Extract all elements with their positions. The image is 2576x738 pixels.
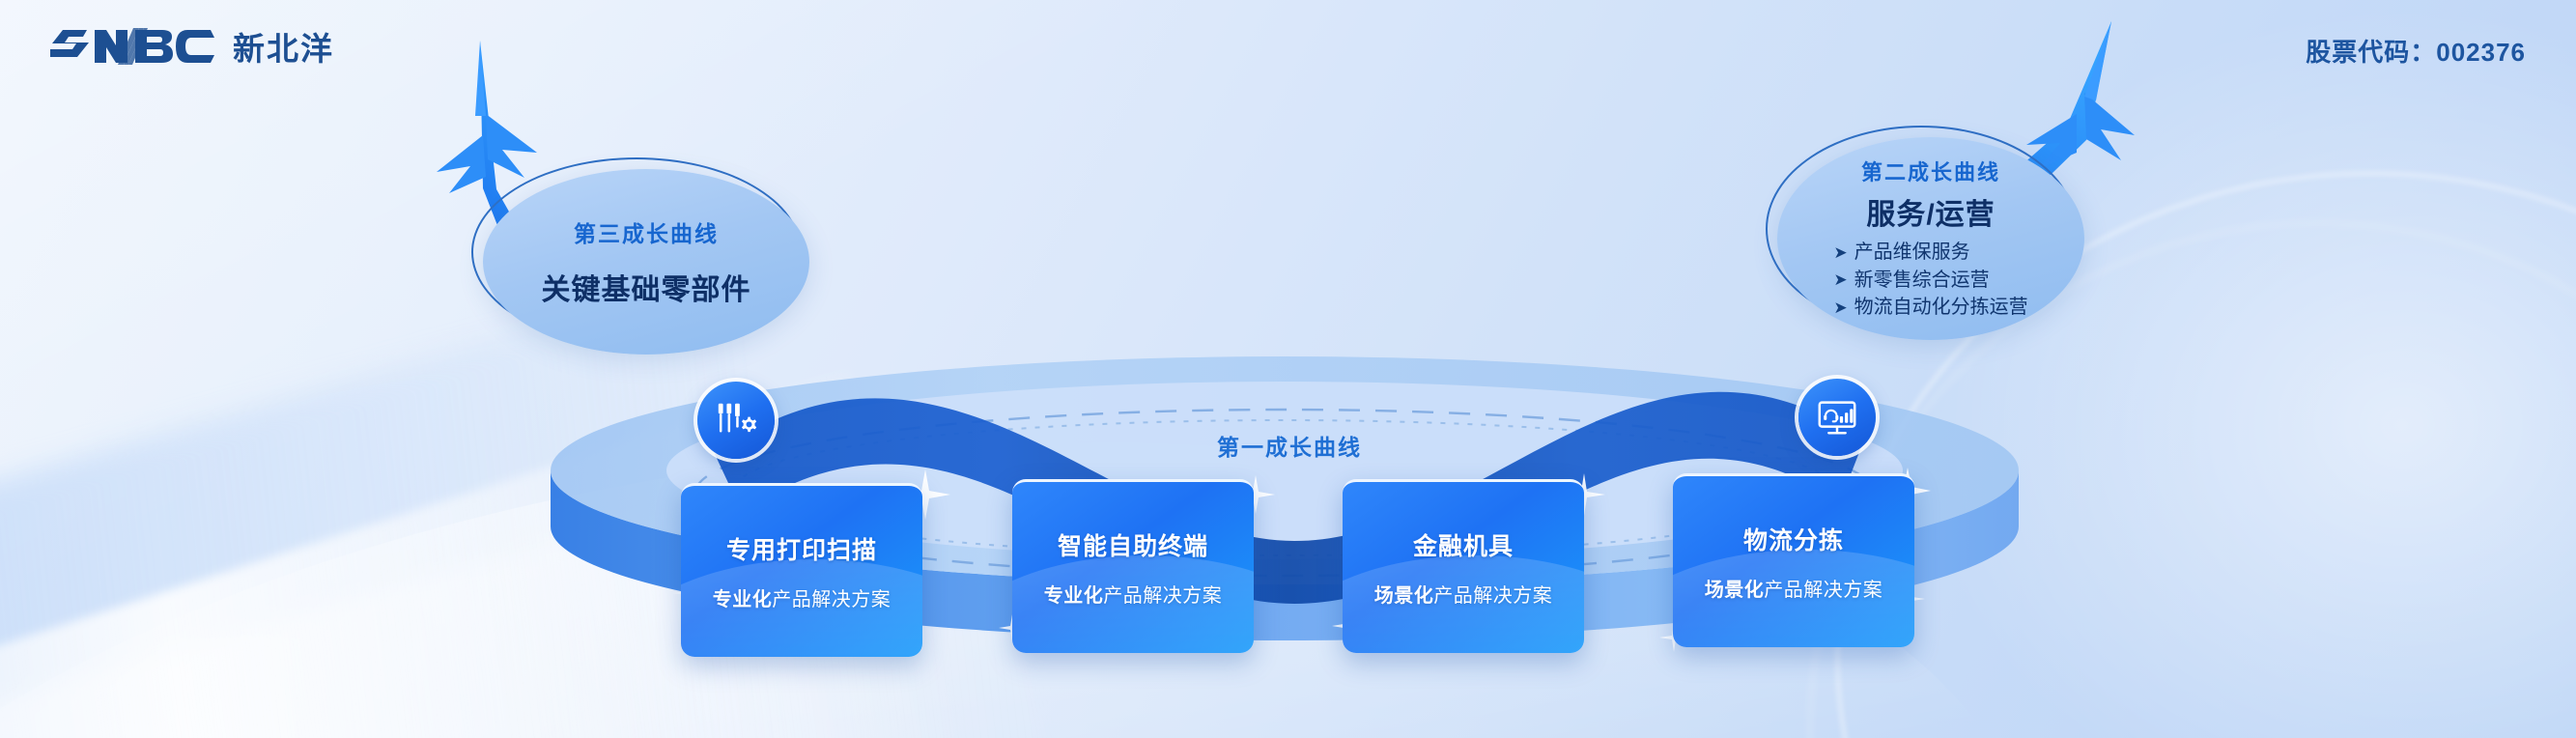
product-card[interactable]: 专用打印扫描 专业化产品解决方案 — [681, 483, 922, 657]
snbc-logo-icon — [50, 24, 219, 69]
chevron-right-icon: ➤ — [1833, 271, 1847, 288]
second-curve-title: 服务/运营 — [1866, 190, 1995, 233]
product-card-subtitle: 专业化产品解决方案 — [1044, 580, 1223, 608]
second-curve-bubble[interactable]: 第二成长曲线 服务/运营 ➤ 产品维保服务 ➤ 新零售综合运营 ➤ 物流自动化分… — [1777, 137, 2084, 340]
list-item: ➤ 产品维保服务 — [1833, 239, 2027, 266]
second-curve-bullet-1: 新零售综合运营 — [1854, 267, 1990, 294]
second-curve-badge[interactable] — [1798, 379, 1876, 456]
stock-code-label: 股票代码：002376 — [2306, 33, 2526, 69]
chevron-right-icon: ➤ — [1833, 299, 1847, 316]
second-curve-bullet-list: ➤ 产品维保服务 ➤ 新零售综合运营 ➤ 物流自动化分拣运营 — [1833, 239, 2027, 321]
product-card-subtitle-rest: 产品解决方案 — [1433, 585, 1552, 607]
product-card-title: 物流分拣 — [1743, 522, 1844, 556]
product-card-subtitle-rest: 产品解决方案 — [1764, 580, 1882, 601]
product-card-subtitle-bold: 场景化 — [1705, 580, 1765, 601]
list-item: ➤ 物流自动化分拣运营 — [1833, 294, 2027, 321]
second-curve-kicker: 第二成长曲线 — [1861, 156, 2000, 186]
service-monitor-headset-chart-icon — [1815, 395, 1859, 440]
product-card[interactable]: 物流分拣 场景化产品解决方案 — [1673, 473, 1914, 647]
product-card-subtitle-bold: 专业化 — [713, 589, 773, 610]
brand-logo-cn: 新北洋 — [233, 23, 334, 70]
product-card-subtitle-rest: 产品解决方案 — [1103, 585, 1222, 607]
product-card-subtitle-bold: 专业化 — [1044, 585, 1104, 607]
third-curve-bubble[interactable]: 第三成长曲线 关键基础零部件 — [483, 169, 809, 355]
third-curve-kicker: 第三成长曲线 — [574, 215, 719, 248]
product-card-subtitle: 专业化产品解决方案 — [713, 583, 892, 611]
product-card[interactable]: 智能自助终端 专业化产品解决方案 — [1012, 479, 1254, 653]
second-curve-bullet-2: 物流自动化分拣运营 — [1854, 294, 2028, 321]
product-card-subtitle-bold: 场景化 — [1374, 585, 1434, 607]
first-curve-label: 第一成长曲线 — [1217, 429, 1362, 462]
product-card-subtitle-rest: 产品解决方案 — [772, 589, 891, 610]
product-card-title: 专用打印扫描 — [726, 531, 877, 566]
product-card-subtitle: 场景化产品解决方案 — [1374, 580, 1553, 608]
product-card[interactable]: 金融机具 场景化产品解决方案 — [1343, 479, 1584, 653]
product-card-subtitle: 场景化产品解决方案 — [1705, 574, 1883, 602]
second-curve-bullet-0: 产品维保服务 — [1854, 239, 1970, 266]
third-curve-title: 关键基础零部件 — [542, 266, 751, 308]
third-curve-badge[interactable] — [697, 382, 775, 459]
sliders-gear-components-icon — [714, 398, 758, 442]
product-card-title: 金融机具 — [1413, 527, 1514, 562]
product-card-title: 智能自助终端 — [1058, 527, 1208, 562]
chevron-right-icon: ➤ — [1833, 244, 1847, 261]
brand-logo[interactable]: 新北洋 — [50, 23, 334, 70]
growth-curve-diagram — [0, 0, 2576, 738]
list-item: ➤ 新零售综合运营 — [1833, 267, 2027, 294]
infographic-canvas: 新北洋 股票代码：002376 第三成长曲线 关键基础零部件 第二成长曲线 服务… — [0, 0, 2576, 738]
